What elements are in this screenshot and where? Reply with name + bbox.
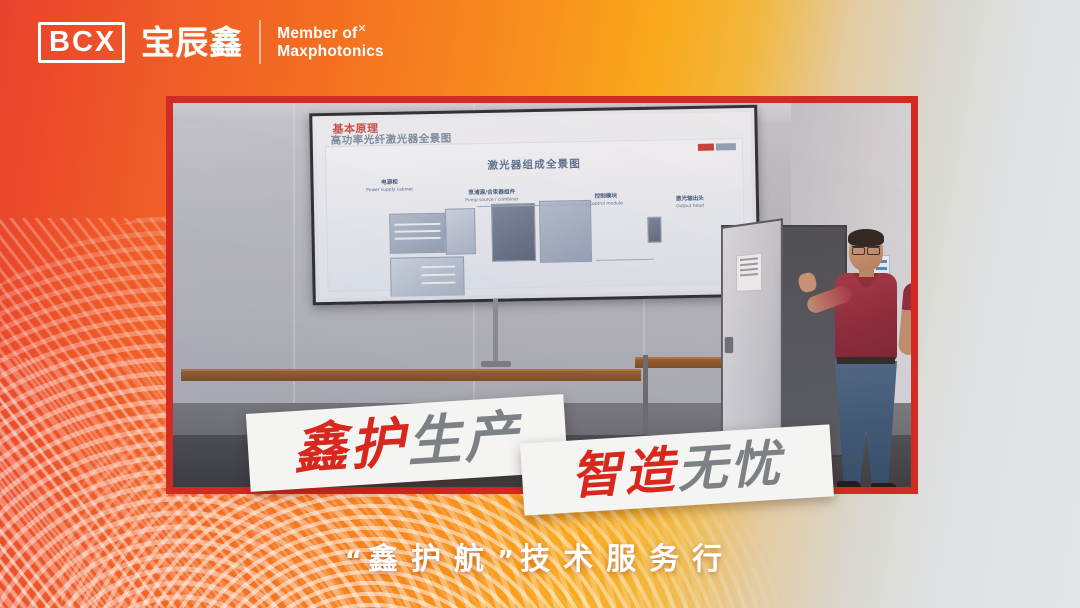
max-x-icon: ✕: [357, 23, 366, 35]
headline-line-2: 智造无忧: [570, 438, 785, 501]
brand-logo-bar: BCX 宝辰鑫 Member of✕ Maxphotonics: [38, 20, 384, 64]
headline-line-2-gray: 无忧: [675, 434, 784, 499]
bcx-logo-mark: BCX: [38, 22, 125, 63]
headline-line-2-red: 智造: [569, 441, 678, 506]
subtitle-rest: 技术服务行: [520, 542, 735, 577]
maxphotonics-label: Maxphotonics: [277, 43, 384, 60]
poster-canvas: BCX 宝辰鑫 Member of✕ Maxphotonics 基本原理 高功率…: [0, 0, 1080, 608]
headline-line-1-red: 鑫护: [291, 411, 409, 481]
headline-line-1-gray: 生产: [405, 404, 523, 474]
brand-divider: [259, 20, 261, 64]
member-of-block: Member of✕ Maxphotonics: [277, 23, 384, 62]
subtitle-open-quote: “: [345, 546, 368, 576]
member-of-label: Member of: [277, 25, 357, 42]
headline-line-1: 鑫护生产: [292, 409, 523, 477]
brand-chinese-name: 宝辰鑫: [141, 26, 243, 59]
subtitle-line: “鑫护航”技术服务行: [0, 534, 1080, 578]
subtitle-emphasis: 鑫护航: [368, 542, 497, 577]
bcx-letters: BCX: [49, 28, 116, 57]
subtitle-close-quote: ”: [497, 546, 520, 576]
